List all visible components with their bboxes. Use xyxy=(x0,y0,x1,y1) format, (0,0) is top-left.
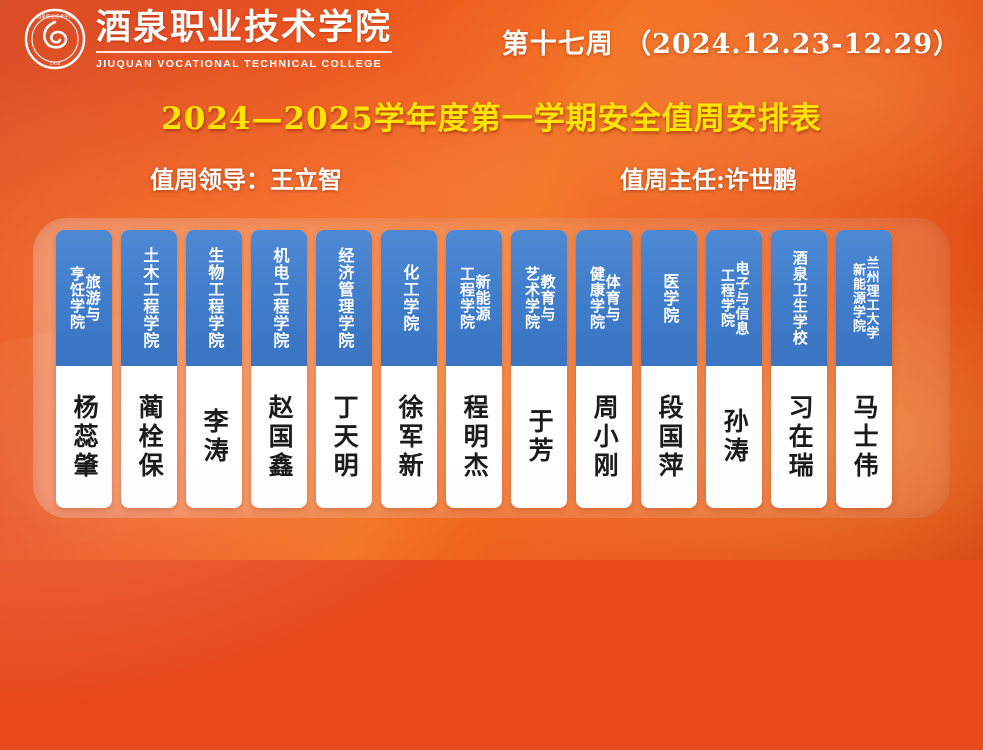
column-unit-label: 医学院 xyxy=(661,273,678,324)
logo-text-block: 酒泉职业技术学院 JIUQUAN VOCATIONAL TECHNICAL CO… xyxy=(96,8,392,69)
schedule-columns: 旅游与 亨饪学院杨蕊肇土木工程学院蔺栓保生物工程学院李涛机电工程学院赵国鑫经济管… xyxy=(56,230,956,508)
schedule-column: 土木工程学院蔺栓保 xyxy=(121,230,177,508)
schedule-column: 机电工程学院赵国鑫 xyxy=(251,230,307,508)
column-unit-label: 兰州理工大学 新能源学院 xyxy=(850,256,877,340)
column-person-label: 孙涛 xyxy=(721,408,747,466)
column-person-label: 杨蕊肇 xyxy=(71,394,97,481)
svg-text:1958: 1958 xyxy=(50,61,61,66)
column-person-cell: 杨蕊肇 xyxy=(56,366,112,508)
schedule-column: 经济管理学院丁天明 xyxy=(316,230,372,508)
column-person-label: 习在瑞 xyxy=(786,394,812,481)
column-person-label: 马士伟 xyxy=(851,394,877,481)
column-person-label: 于芳 xyxy=(526,408,552,466)
column-person-cell: 蔺栓保 xyxy=(121,366,177,508)
column-unit-header: 教育与 艺术学院 xyxy=(511,230,567,366)
column-person-cell: 段国萍 xyxy=(641,366,697,508)
svg-text:酒泉职业技术学院: 酒泉职业技术学院 xyxy=(37,13,74,20)
duty-director-label: 值周主任:许世鹏 xyxy=(620,160,797,195)
column-person-cell: 周小刚 xyxy=(576,366,632,508)
column-unit-header: 新能源 工程学院 xyxy=(446,230,502,366)
column-unit-header: 土木工程学院 xyxy=(121,230,177,366)
column-unit-label: 新能源 工程学院 xyxy=(458,266,489,330)
column-unit-header: 兰州理工大学 新能源学院 xyxy=(836,230,892,366)
week-label: 第十七周 （2024.12.23-12.29） xyxy=(502,22,961,61)
column-person-cell: 赵国鑫 xyxy=(251,366,307,508)
column-person-cell: 孙涛 xyxy=(706,366,762,508)
page-title: 2024—2025学年度第一学期安全值周安排表 xyxy=(0,93,983,138)
column-person-cell: 于芳 xyxy=(511,366,567,508)
schedule-column: 生物工程学院李涛 xyxy=(186,230,242,508)
column-unit-label: 旅游与 亨饪学院 xyxy=(68,266,99,330)
column-person-label: 蔺栓保 xyxy=(136,394,162,481)
page-header: 酒泉职业技术学院 1958 酒泉职业技术学院 JIUQUAN VOCATIONA… xyxy=(0,0,983,88)
column-unit-header: 化工学院 xyxy=(381,230,437,366)
schedule-column: 化工学院徐军新 xyxy=(381,230,437,508)
column-unit-label: 土木工程学院 xyxy=(141,247,158,349)
column-person-label: 程明杰 xyxy=(461,394,487,481)
column-person-cell: 习在瑞 xyxy=(771,366,827,508)
column-person-cell: 李涛 xyxy=(186,366,242,508)
column-unit-label: 生物工程学院 xyxy=(206,247,223,349)
column-person-label: 李涛 xyxy=(201,408,227,466)
schedule-column: 教育与 艺术学院于芳 xyxy=(511,230,567,508)
column-unit-header: 经济管理学院 xyxy=(316,230,372,366)
college-logo: 酒泉职业技术学院 1958 酒泉职业技术学院 JIUQUAN VOCATIONA… xyxy=(24,8,392,70)
column-unit-label: 机电工程学院 xyxy=(271,247,288,349)
column-unit-header: 旅游与 亨饪学院 xyxy=(56,230,112,366)
schedule-column: 医学院段国萍 xyxy=(641,230,697,508)
column-person-cell: 徐军新 xyxy=(381,366,437,508)
column-unit-label: 体育与 健康学院 xyxy=(588,266,619,330)
column-unit-label: 教育与 艺术学院 xyxy=(523,266,554,330)
schedule-column: 新能源 工程学院程明杰 xyxy=(446,230,502,508)
column-unit-label: 酒泉卫生学校 xyxy=(791,250,807,346)
column-person-cell: 丁天明 xyxy=(316,366,372,508)
duty-leader-label: 值周领导：王立智 xyxy=(150,160,342,195)
column-unit-header: 医学院 xyxy=(641,230,697,366)
schedule-column: 旅游与 亨饪学院杨蕊肇 xyxy=(56,230,112,508)
logo-divider xyxy=(96,51,392,53)
column-unit-header: 酒泉卫生学校 xyxy=(771,230,827,366)
column-person-cell: 程明杰 xyxy=(446,366,502,508)
schedule-column: 体育与 健康学院周小刚 xyxy=(576,230,632,508)
schedule-column: 电子与信息 工程学院孙涛 xyxy=(706,230,762,508)
column-person-label: 徐军新 xyxy=(396,394,422,481)
college-name-cn: 酒泉职业技术学院 xyxy=(96,8,392,47)
column-person-label: 周小刚 xyxy=(591,394,617,481)
column-unit-label: 经济管理学院 xyxy=(336,247,353,349)
subtitle-row: 值周领导：王立智 值周主任:许世鹏 xyxy=(0,160,983,196)
column-person-label: 赵国鑫 xyxy=(266,394,292,481)
column-unit-header: 生物工程学院 xyxy=(186,230,242,366)
college-name-en: JIUQUAN VOCATIONAL TECHNICAL COLLEGE xyxy=(96,58,392,70)
column-person-cell: 马士伟 xyxy=(836,366,892,508)
column-person-label: 丁天明 xyxy=(331,394,357,481)
schedule-column: 兰州理工大学 新能源学院马士伟 xyxy=(836,230,892,508)
column-unit-label: 化工学院 xyxy=(401,264,418,332)
column-person-label: 段国萍 xyxy=(656,394,682,481)
column-unit-header: 体育与 健康学院 xyxy=(576,230,632,366)
column-unit-label: 电子与信息 工程学院 xyxy=(719,261,748,336)
schedule-column: 酒泉卫生学校习在瑞 xyxy=(771,230,827,508)
column-unit-header: 电子与信息 工程学院 xyxy=(706,230,762,366)
college-seal-icon: 酒泉职业技术学院 1958 xyxy=(24,8,86,70)
column-unit-header: 机电工程学院 xyxy=(251,230,307,366)
